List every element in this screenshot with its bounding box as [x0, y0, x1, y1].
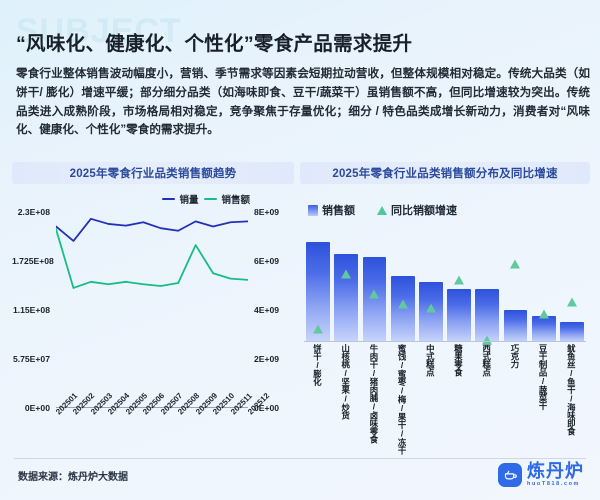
growth-marker[interactable]: [426, 303, 436, 312]
bar-group[interactable]: [558, 234, 586, 342]
bar[interactable]: [475, 289, 499, 342]
bar-category-label: 中式糕点: [426, 344, 434, 376]
bar-group[interactable]: [445, 234, 473, 342]
line-plot-area: [56, 212, 248, 408]
growth-marker[interactable]: [454, 275, 464, 284]
legend-bar-swatch: [308, 205, 318, 216]
bar[interactable]: [560, 322, 584, 342]
growth-marker[interactable]: [539, 309, 549, 318]
legend-item-sales-amount: 销售额: [308, 202, 355, 218]
y-axis-tick-left-3: 1.725E+08: [12, 256, 54, 266]
infographic-page: SUBJECT “风味化、健康化、个性化”零食产品需求提升 零食行业整体销售波动…: [0, 0, 600, 500]
y-axis-tick-right-2: 4E+09: [250, 305, 294, 315]
brand-url: huoT818.com: [527, 482, 584, 488]
bar-group[interactable]: [304, 234, 332, 342]
legend-line-swatch-sales: [204, 198, 217, 200]
page-title: “风味化、健康化、个性化”零食产品需求提升: [16, 32, 586, 56]
legend-item-volume: 销量: [162, 192, 198, 206]
x-axis-labels: 2025012025022025032025042025052025062025…: [56, 408, 248, 452]
bar-category-label: 牛肉干/猪肉脯/卤味零食: [370, 344, 378, 443]
line-series-volume: [56, 219, 248, 241]
bar-group[interactable]: [473, 234, 501, 342]
bar[interactable]: [532, 316, 556, 342]
legend-label-sales-amount: 销售额: [322, 202, 355, 218]
bar-axis-line: [304, 341, 586, 342]
teapot-icon: [498, 463, 522, 487]
y-axis-tick-right-1: 2E+09: [250, 354, 294, 364]
legend-item-growth: 同比销额增速: [377, 202, 457, 218]
legend-label-growth: 同比销额增速: [391, 202, 457, 218]
brand-logo: 炼丹炉 huoT818.com: [498, 462, 584, 488]
legend-item-sales: 销售额: [204, 192, 250, 206]
legend-label-volume: 销量: [179, 192, 198, 206]
y-axis-tick-right-0: 0E+00: [250, 403, 294, 413]
growth-marker[interactable]: [510, 259, 520, 268]
legend-distribution: 销售额 同比销额增速: [308, 202, 457, 218]
y-axis-tick-left-1: 5.75E+07: [12, 354, 54, 364]
y-axis-tick-right-3: 6E+09: [250, 256, 294, 266]
bar-category-label: 糖果零食: [454, 344, 462, 376]
growth-marker[interactable]: [398, 299, 408, 308]
bar-category-label: 巧克力: [511, 344, 519, 368]
bar[interactable]: [504, 310, 528, 342]
bar-group[interactable]: [332, 234, 360, 342]
summary-paragraph: 零食行业整体销售波动幅度小，营销、季节需求等因素会短期拉动营收，但整体规模相对稳…: [16, 65, 590, 140]
legend-label-sales: 销售额: [221, 192, 250, 206]
brand-text: 炼丹炉 huoT818.com: [527, 462, 584, 488]
y-axis-tick-left-4: 2.3E+08: [12, 207, 54, 217]
chart-title-distribution: 2025年零食行业品类销售额分布及同比增速: [300, 162, 590, 184]
brand-name: 炼丹炉: [527, 462, 584, 480]
bar-category-label: 山核桃/坚果/炒货: [341, 344, 349, 419]
bar-category-label: 蜜饯/蜜枣/梅/果干/冻干: [398, 344, 406, 454]
footer-divider: [14, 458, 586, 459]
bar-group[interactable]: [417, 234, 445, 342]
bar-plot-area: [304, 234, 586, 342]
bar-category-labels: 饼干/膨化山核桃/坚果/炒货牛肉干/猪肉脯/卤味零食蜜饯/蜜枣/梅/果干/冻干中…: [304, 344, 586, 452]
bar[interactable]: [363, 257, 387, 342]
legend-line-swatch-volume: [162, 198, 175, 200]
bar-category-label: 饼干/膨化: [313, 344, 321, 386]
data-source-text: 数据来源：炼丹炉大数据: [18, 468, 128, 483]
bar[interactable]: [447, 289, 471, 342]
chart-title-trend: 2025年零食行业品类销售额趋势: [12, 162, 294, 184]
line-series-group: [56, 212, 248, 408]
line-chart: 销量 销售额 202501202502202503202504202505202…: [12, 190, 294, 452]
chart-panel-distribution: 2025年零食行业品类销售额分布及同比增速 销售额 同比销额增速 饼干/膨化山核…: [300, 162, 590, 452]
growth-marker[interactable]: [369, 289, 379, 298]
bar-category-label: 西式糕点: [482, 344, 490, 376]
legend-trend: 销量 销售额: [162, 192, 250, 206]
line-series-sales: [56, 229, 248, 288]
bar[interactable]: [334, 254, 358, 342]
y-axis-tick-left-2: 1.15E+08: [12, 305, 54, 315]
bar[interactable]: [391, 276, 415, 342]
growth-marker[interactable]: [341, 269, 351, 278]
bar-category-label: 鱿鱼丝/鱼干/海味即食: [567, 344, 575, 435]
chart-panel-trend: 2025年零食行业品类销售额趋势 销量 销售额 2025012025022025…: [12, 162, 294, 452]
bar-group[interactable]: [360, 234, 388, 342]
bar-category-label: 豆干制品/蔬菜干: [539, 344, 547, 410]
y-axis-tick-right-4: 8E+09: [250, 207, 294, 217]
legend-triangle-swatch: [377, 206, 387, 215]
bar-group[interactable]: [501, 234, 529, 342]
bar-chart: 销售额 同比销额增速 饼干/膨化山核桃/坚果/炒货牛肉干/猪肉脯/卤味零食蜜饯/…: [300, 190, 590, 452]
y-axis-tick-left-0: 0E+00: [12, 403, 54, 413]
growth-marker[interactable]: [567, 297, 577, 306]
growth-marker[interactable]: [313, 324, 323, 333]
bar-group[interactable]: [389, 234, 417, 342]
bar-group[interactable]: [530, 234, 558, 342]
